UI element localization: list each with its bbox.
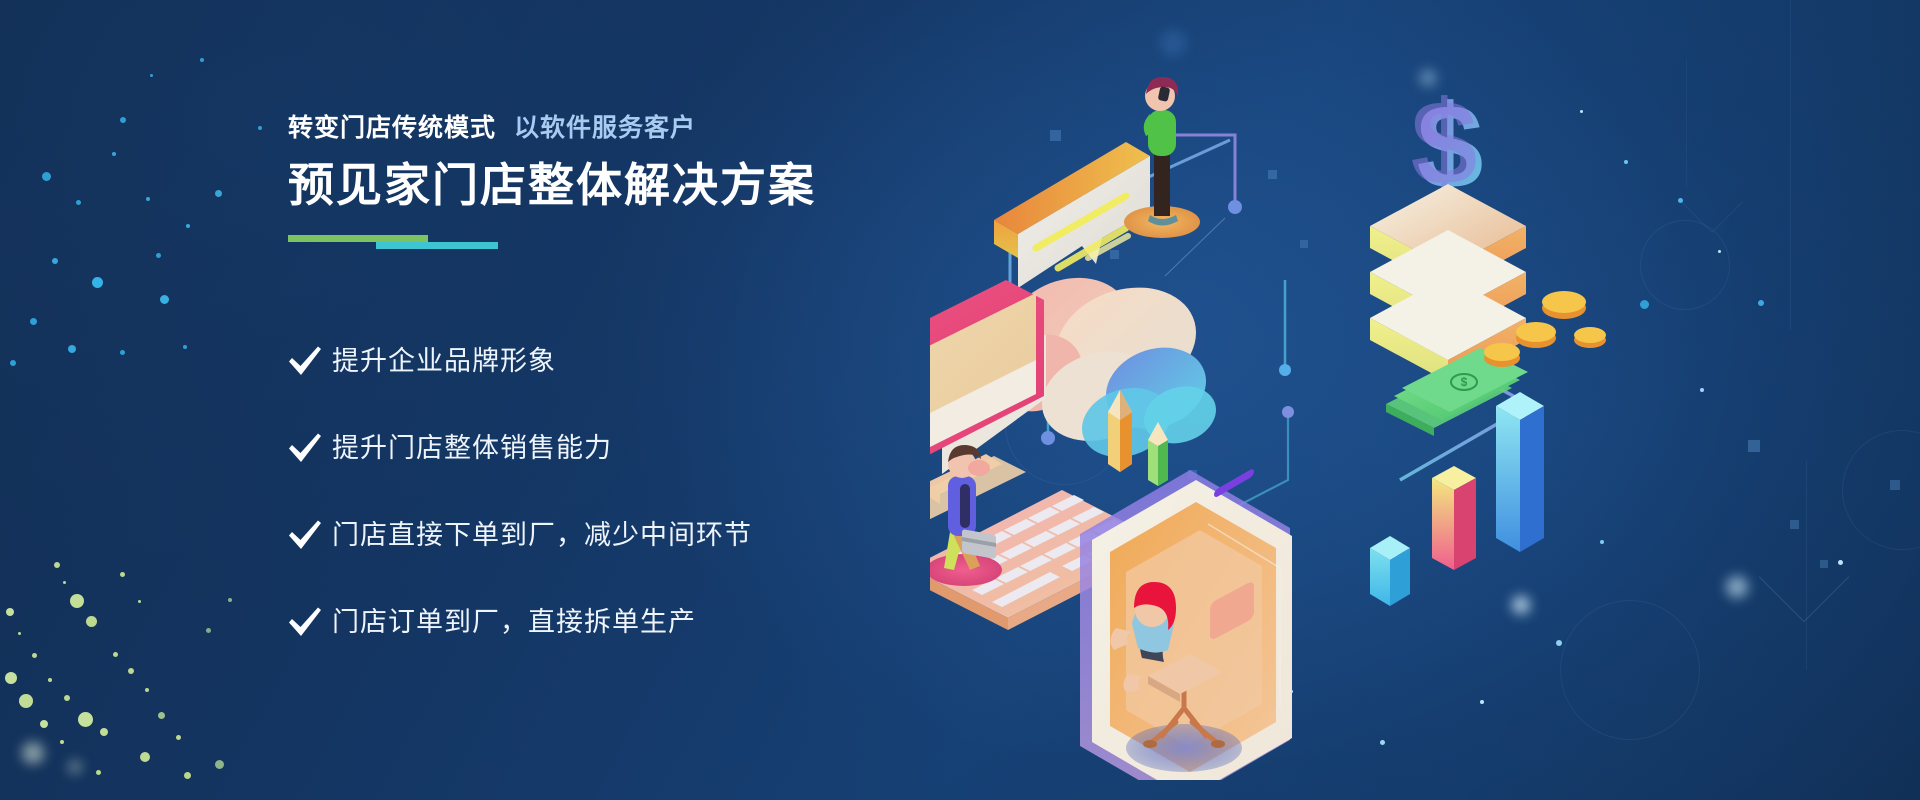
kicker-secondary: 以软件服务客户 [514, 114, 696, 142]
hero-illustration: $ $ [930, 40, 1760, 780]
check-icon [288, 607, 332, 637]
list-item-label: 提升企业品牌形象 [332, 348, 556, 375]
list-item-label: 门店订单到厂，直接拆单生产 [332, 609, 696, 636]
title-underline-decoration [288, 235, 498, 249]
underline-bar-cyan [376, 242, 498, 249]
list-item: 提升门店整体销售能力 [288, 427, 988, 469]
list-item-label: 提升门店整体销售能力 [332, 435, 612, 462]
check-icon [288, 433, 332, 463]
list-item: 门店订单到厂，直接拆单生产 [288, 601, 988, 643]
speech-bubble-icon [994, 142, 1150, 288]
bar-chart-icon [1370, 392, 1544, 606]
underline-bar-green [288, 235, 428, 242]
svg-text:$: $ [1461, 375, 1468, 389]
feature-list: 提升企业品牌形象 提升门店整体销售能力 门店直接下单到厂，减少中间环节 [288, 340, 988, 688]
check-icon [288, 520, 332, 550]
list-item: 提升企业品牌形象 [288, 340, 988, 382]
check-icon [288, 346, 332, 376]
list-item-label: 门店直接下单到厂，减少中间环节 [332, 522, 752, 549]
desktop-monitor-icon [930, 280, 1046, 528]
list-item: 门店直接下单到厂，减少中间环节 [288, 514, 988, 556]
hero-banner: 转变门店传统模式以软件服务客户 预见家门店整体解决方案 提升企业品牌形象 提升门… [0, 0, 1920, 800]
kicker-primary: 转变门店传统模式 [288, 114, 496, 142]
